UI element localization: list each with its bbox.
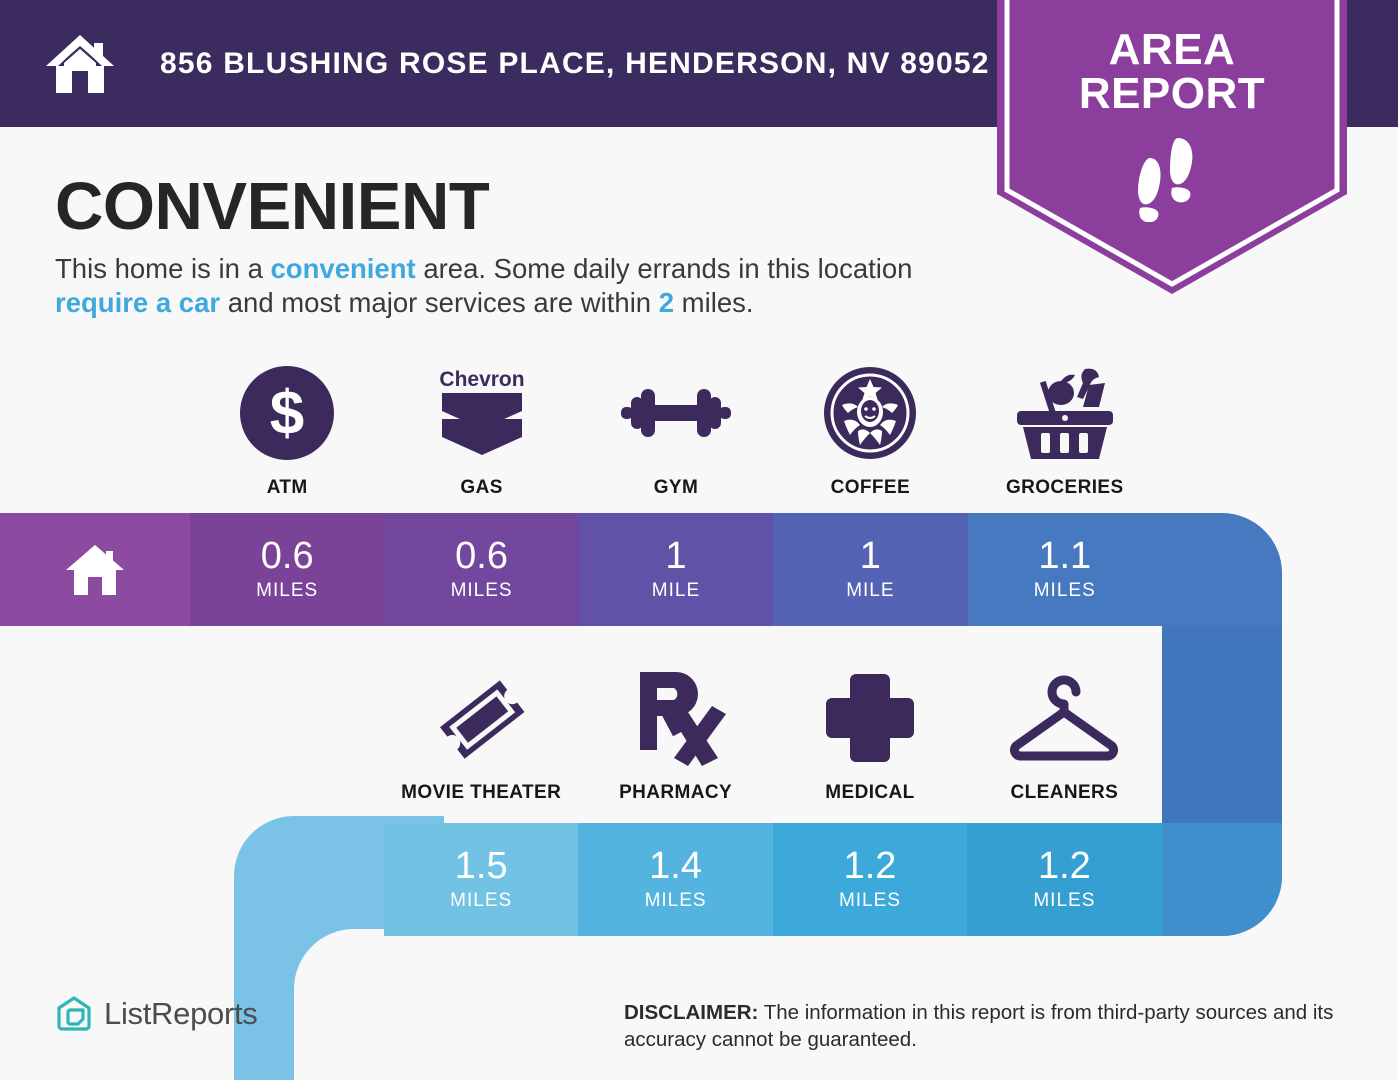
listreports-logo: ListReports [55,995,258,1033]
home-icon [44,33,116,95]
summary-part-3: and most major services are within [220,287,659,318]
distance-cell-cleaners: 1.2 MILES [967,823,1161,936]
amenity-label: COFFEE [831,477,910,499]
home-marker-cell [0,513,190,626]
chevron-logo-icon: Chevron [432,360,532,465]
home-icon [64,543,126,597]
distance-unit: MILES [839,890,901,912]
amenity-label: GAS [460,477,502,499]
amenity-label: CLEANERS [1011,782,1119,804]
svg-text:Chevron: Chevron [439,368,524,391]
distance-unit: MILES [256,580,318,602]
listreports-house-icon [55,995,93,1033]
distance-cell-movie-theater: 1.5 MILES [384,823,578,936]
page-title: CONVENIENT [55,168,489,245]
distance-value: 1.5 [455,847,508,885]
summary-part-2: area. Some daily errands in this locatio… [416,253,913,284]
disclaimer: DISCLAIMER: The information in this repo… [624,1000,1354,1053]
dollar-circle-icon: $ [238,360,336,465]
distance-unit: MILES [451,580,513,602]
distance-value: 0.6 [455,537,508,575]
starbucks-icon [822,360,918,465]
distance-value: 1 [860,537,881,575]
distance-unit: MILE [846,580,894,602]
distance-cell-medical: 1.2 MILES [773,823,967,936]
distance-unit: MILES [645,890,707,912]
amenity-medical: MEDICAL [773,665,967,804]
summary-text: This home is in a convenient area. Some … [55,252,955,319]
distance-value: 0.6 [261,537,314,575]
area-report-badge: AREA REPORT [997,0,1347,299]
cross-icon [822,665,918,770]
summary-highlight-convenient: convenient [271,253,416,284]
svg-text:$: $ [270,379,304,448]
amenity-icons-row-2: MOVIE THEATER PHARMACY MEDICAL [384,665,1162,804]
summary-highlight-require-a-car: require a car [55,287,220,318]
distance-cell-pharmacy: 1.4 MILES [578,823,772,936]
amenity-cleaners: CLEANERS [967,665,1161,804]
distance-bar-row-1: 0.6 MILES 0.6 MILES 1 MILE 1 MILE 1.1 MI… [0,513,1162,626]
amenity-gas: Chevron GAS [384,360,578,499]
distance-cell-gas: 0.6 MILES [384,513,578,626]
distance-value: 1.1 [1038,537,1091,575]
distance-unit: MILES [1034,580,1096,602]
amenity-pharmacy: PHARMACY [578,665,772,804]
distance-bar-row-2: 1.5 MILES 1.4 MILES 1.2 MILES 1.2 MILES [384,823,1162,936]
distance-cell-coffee: 1 MILE [773,513,967,626]
distance-value: 1.2 [844,847,897,885]
amenity-label: PHARMACY [619,782,732,804]
amenity-coffee: COFFEE [773,360,967,499]
property-address: 856 BLUSHING ROSE PLACE, HENDERSON, NV 8… [160,47,990,81]
distance-value: 1 [665,537,686,575]
summary-part-4: miles. [674,287,753,318]
amenity-atm: $ ATM [190,360,384,499]
distance-unit: MILES [1033,890,1095,912]
logo-text: ListReports [104,996,258,1032]
distance-value: 1.4 [649,847,702,885]
distance-cell-groceries: 1.1 MILES [968,513,1162,626]
amenity-groceries: GROCERIES [968,360,1162,499]
distance-value: 1.2 [1038,847,1091,885]
ticket-icon [429,665,533,770]
amenity-label: ATM [267,477,308,499]
distance-unit: MILE [652,580,700,602]
basket-icon [1013,360,1117,465]
summary-part-1: This home is in a [55,253,271,284]
amenity-label: MEDICAL [825,782,914,804]
amenity-movie-theater: MOVIE THEATER [384,665,578,804]
disclaimer-label: DISCLAIMER: [624,1001,758,1024]
distance-cell-gym: 1 MILE [579,513,773,626]
summary-highlight-miles: 2 [659,287,674,318]
footprints-icon [1122,136,1222,222]
dumbbell-icon [621,360,731,465]
amenity-label: GYM [654,477,698,499]
rx-icon [626,665,726,770]
distance-unit: MILES [450,890,512,912]
distance-cell-atm: 0.6 MILES [190,513,384,626]
amenity-icons-row-1: $ ATM Chevron GAS [190,360,1162,499]
amenity-label: GROCERIES [1006,477,1124,499]
amenity-label: MOVIE THEATER [401,782,561,804]
hanger-icon [1006,665,1122,770]
amenity-gym: GYM [579,360,773,499]
